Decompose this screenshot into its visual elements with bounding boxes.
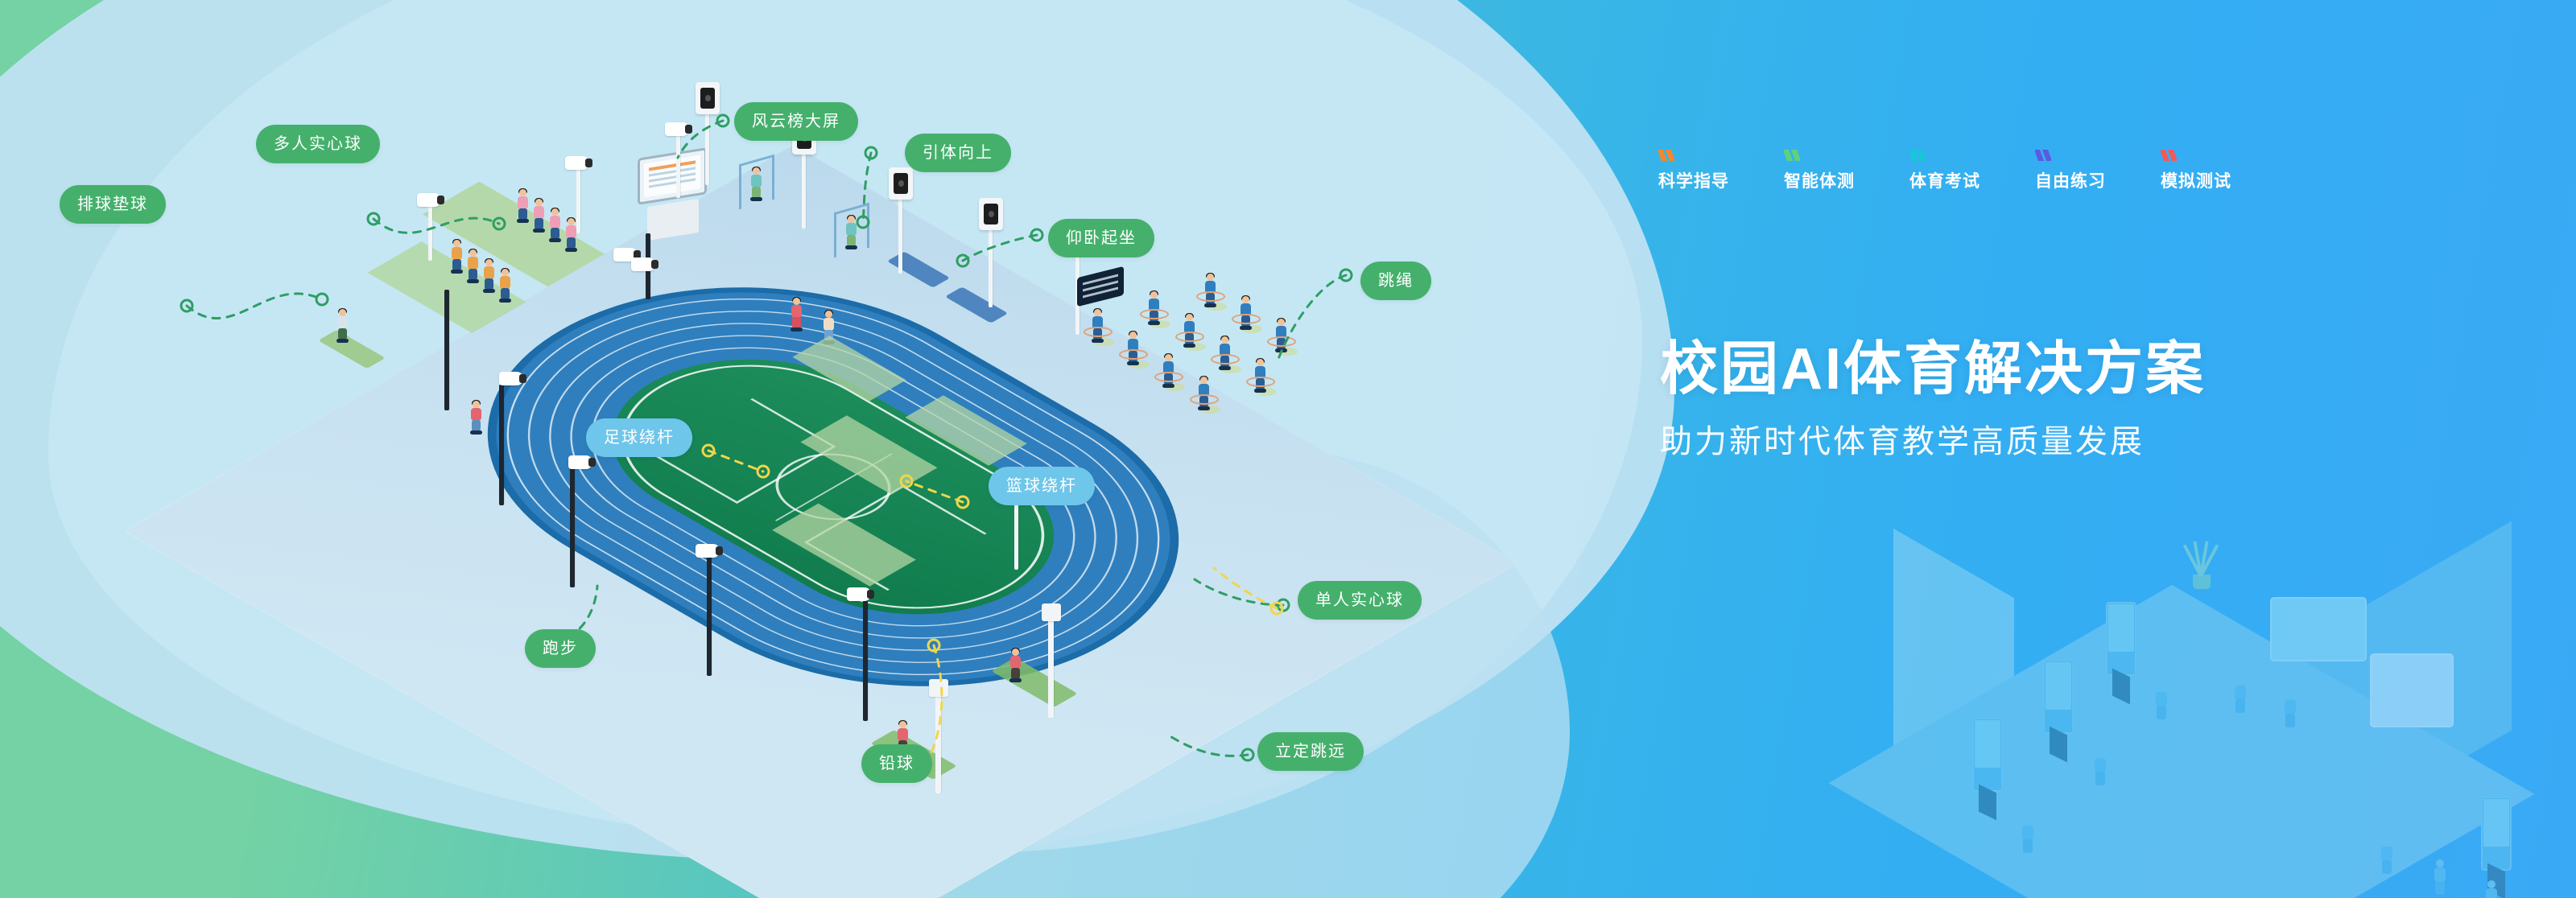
nav-item-label: 模拟测试 (2161, 168, 2286, 192)
label-single-shotput[interactable]: 单人实心球 (1298, 581, 1422, 620)
gym-dashboard-monitor (2370, 653, 2454, 727)
gym-plant (2182, 539, 2220, 589)
nav-item-1[interactable]: 科学指导 (1658, 150, 1784, 192)
nav-accent-icon (1909, 150, 1926, 161)
nav-item-2[interactable]: 智能体测 (1784, 150, 1909, 192)
label-pullup[interactable]: 引体向上 (905, 134, 1011, 172)
gym-kiosk-3 (2106, 602, 2136, 676)
nav-item-3[interactable]: 体育考试 (1909, 150, 2035, 192)
label-basketball-dribble[interactable]: 篮球绕杆 (989, 467, 1095, 505)
label-football-dribble[interactable]: 足球绕杆 (586, 418, 692, 457)
nav-accent-icon (2161, 150, 2177, 161)
gym-kiosk-1 (1972, 718, 2003, 792)
page-title: 校园AI体育解决方案 (1660, 338, 2206, 402)
gym-kiosk-4 (2481, 797, 2512, 871)
label-running[interactable]: 跑步 (525, 629, 596, 668)
nav-item-label: 科学指导 (1658, 168, 1784, 192)
page-subtitle: 助力新时代体育教学高质量发展 (1660, 422, 2206, 461)
nav-item-5[interactable]: 模拟测试 (2161, 150, 2286, 192)
nav-item-label: 智能体测 (1784, 168, 1909, 192)
hero-headline-group: 校园AI体育解决方案 助力新时代体育教学高质量发展 (1660, 338, 2206, 461)
leaderboard-kiosk (638, 153, 707, 237)
label-standing-long-jump[interactable]: 立定跳远 (1257, 732, 1364, 771)
nav-accent-icon (1658, 150, 1674, 161)
label-situp[interactable]: 仰卧起坐 (1048, 219, 1154, 257)
nav-item-label: 自由练习 (2035, 168, 2161, 192)
label-multi-shotput[interactable]: 多人实心球 (256, 125, 380, 163)
label-shotput[interactable]: 铅球 (861, 744, 932, 783)
label-rope-skipping[interactable]: 跳绳 (1360, 262, 1431, 300)
nav-item-4[interactable]: 自由练习 (2035, 150, 2161, 192)
hero-banner: 排球垫球多人实心球风云榜大屏引体向上仰卧起坐跳绳足球绕杆篮球绕杆单人实心球跑步铅… (0, 0, 2576, 898)
nav-accent-icon (1784, 150, 1800, 161)
indoor-gym-illustration (1876, 531, 2576, 898)
gym-kiosk-2 (2043, 660, 2074, 734)
nav-item-label: 体育考试 (1909, 168, 2035, 192)
led-info-board (1077, 266, 1124, 307)
feature-nav: 科学指导智能体测体育考试自由练习模拟测试 (1658, 150, 2286, 192)
gym-monitor-1 (2270, 597, 2367, 661)
label-leaderboard-screen[interactable]: 风云榜大屏 (734, 102, 858, 141)
nav-accent-icon (2035, 150, 2051, 161)
label-volleyball-pass[interactable]: 排球垫球 (60, 185, 166, 224)
